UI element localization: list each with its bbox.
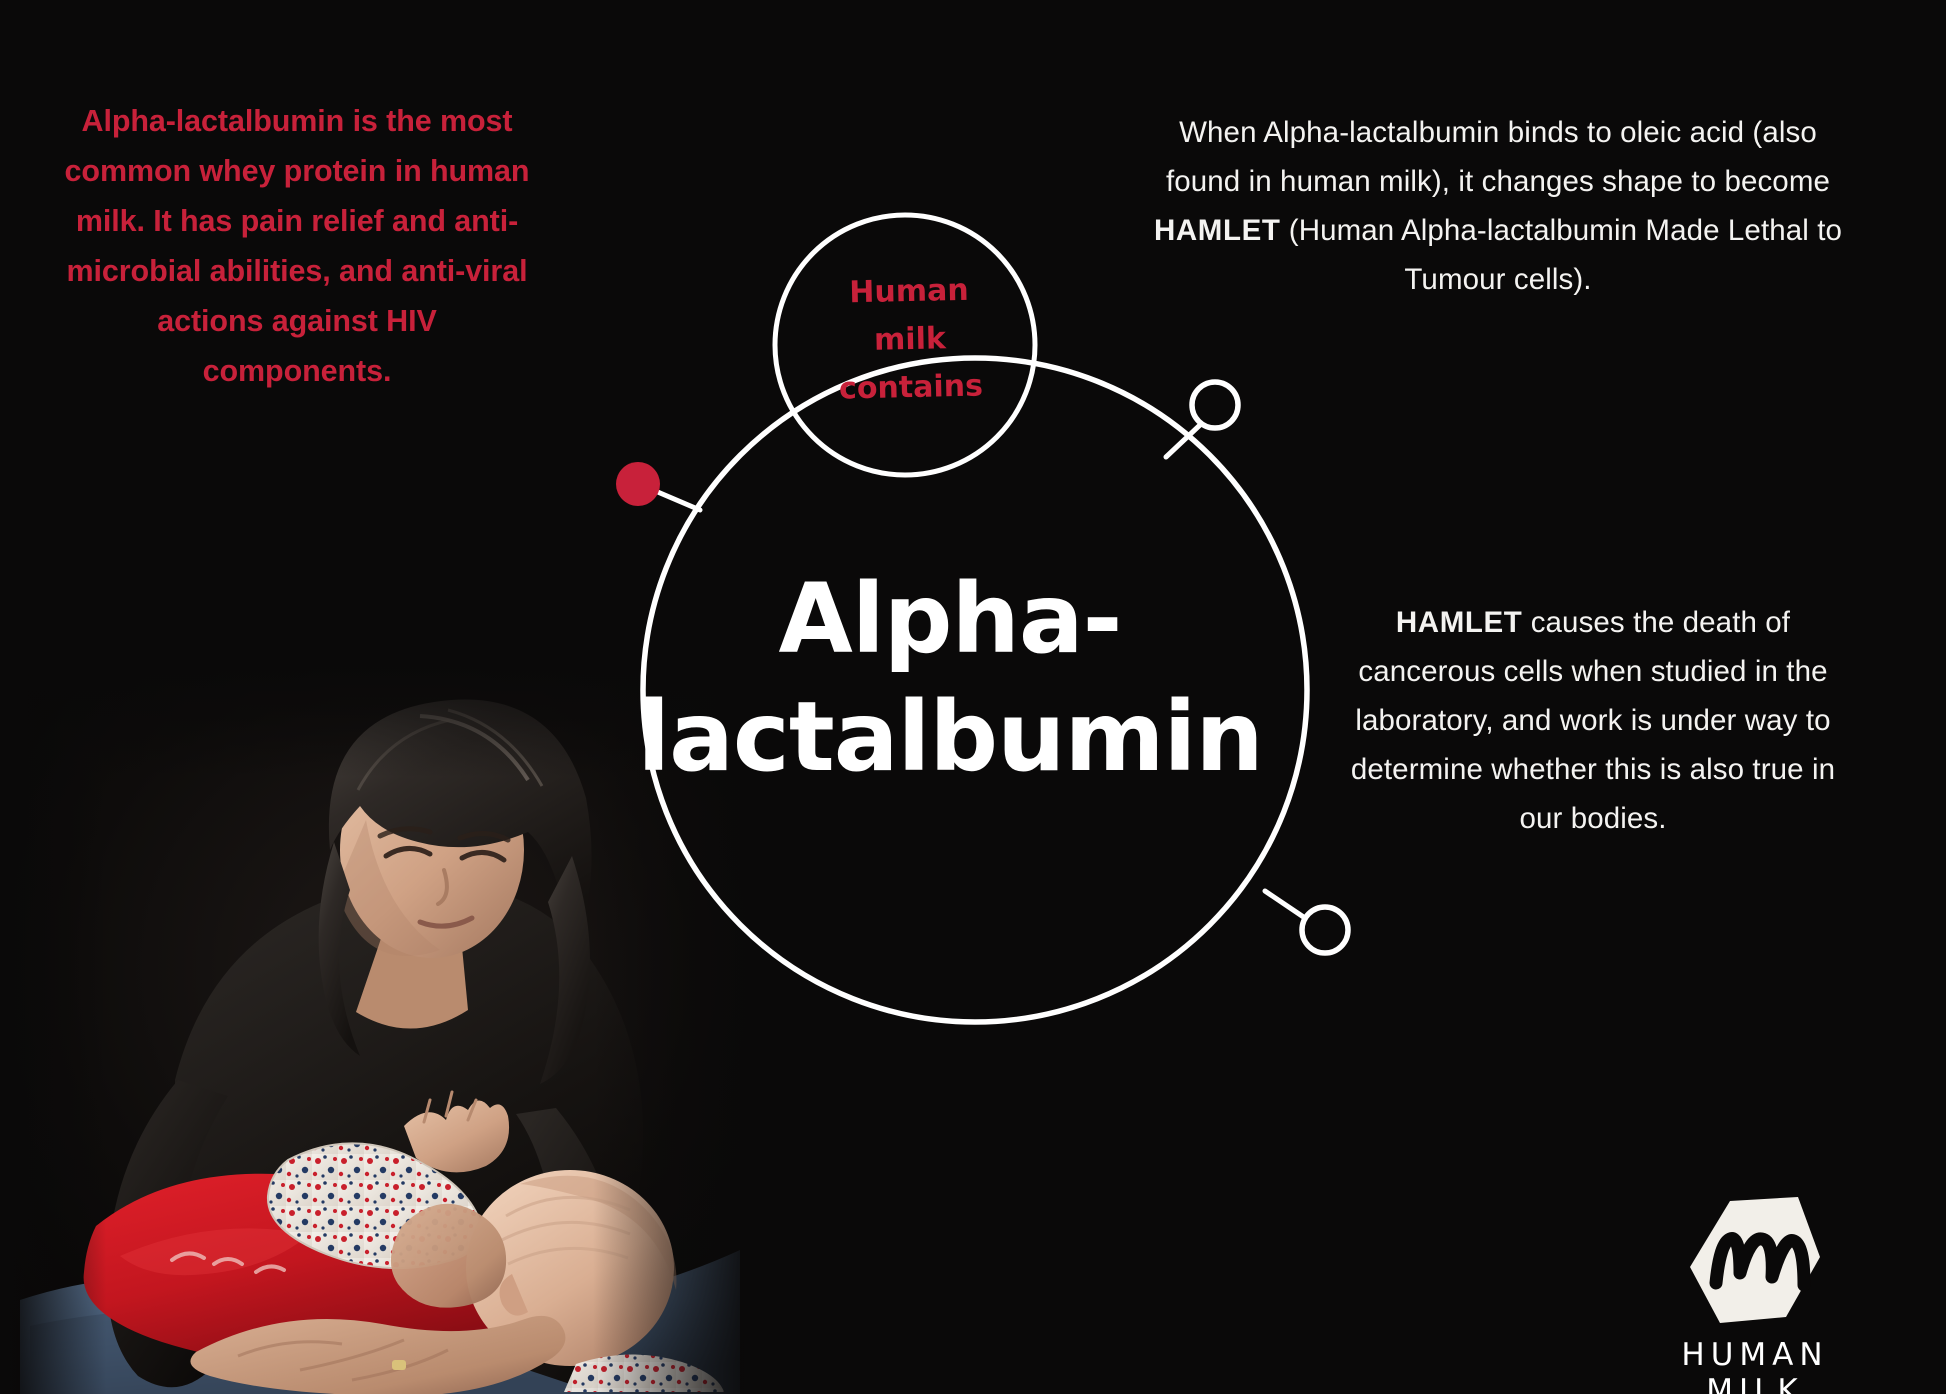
right-paragraph-hamlet-effect: HAMLET causes the death of cancerous cel… [1338,598,1848,843]
hexagon-logo-icon [1686,1195,1824,1329]
red-dot-connector [616,462,660,506]
right-paragraph-1-bold-hamlet: HAMLET [1154,214,1281,247]
human-milk-logo: HUMAN MILK [1640,1195,1870,1394]
left-description-paragraph: Alpha-lactalbumin is the most common whe… [62,96,532,396]
connector-line-right-top [1166,425,1200,457]
open-circle-connector-bottom [1302,907,1348,953]
main-title: Alpha- lactalbumin [600,560,1300,796]
small-circle-label-line1: Human [799,266,1020,319]
right-paragraph-1-part2: (Human Alpha-lactalbumin Made Lethal to … [1280,214,1842,296]
connector-line-left [646,487,700,510]
logo-wordmark: HUMAN MILK [1640,1337,1870,1394]
small-circle-label-line3: contains [801,362,1022,415]
main-title-line2: lactalbumin [600,678,1300,796]
connector-line-right-bottom [1265,891,1305,918]
right-paragraph-hamlet-definition: When Alpha-lactalbumin binds to oleic ac… [1148,108,1848,304]
small-circle-label: Human milk contains [799,266,1022,415]
small-circle-label-line2: milk [800,314,1021,367]
infographic-page: Alpha-lactalbumin is the most common whe… [0,0,1946,1394]
main-title-line1: Alpha- [779,563,1122,675]
open-circle-connector-top [1192,382,1238,428]
right-paragraph-2-bold-hamlet: HAMLET [1396,606,1523,639]
right-paragraph-1-part1: When Alpha-lactalbumin binds to oleic ac… [1166,116,1830,198]
right-paragraph-2-part2: causes the death of cancerous cells when… [1351,606,1835,835]
